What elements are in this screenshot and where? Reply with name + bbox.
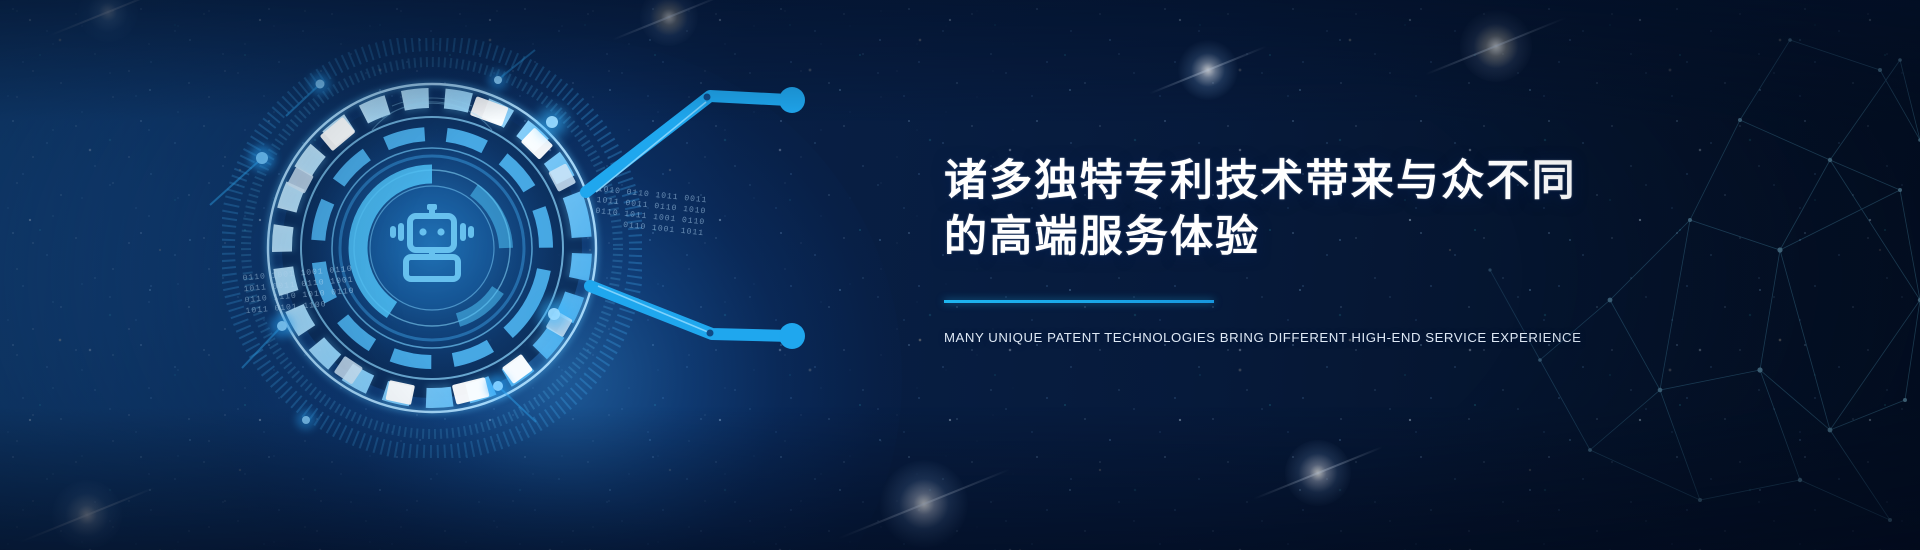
background-edge-fade (0, 0, 1920, 550)
hero-banner: 0110 1001 1001 01101011 0011 0110 100101… (0, 0, 1920, 550)
